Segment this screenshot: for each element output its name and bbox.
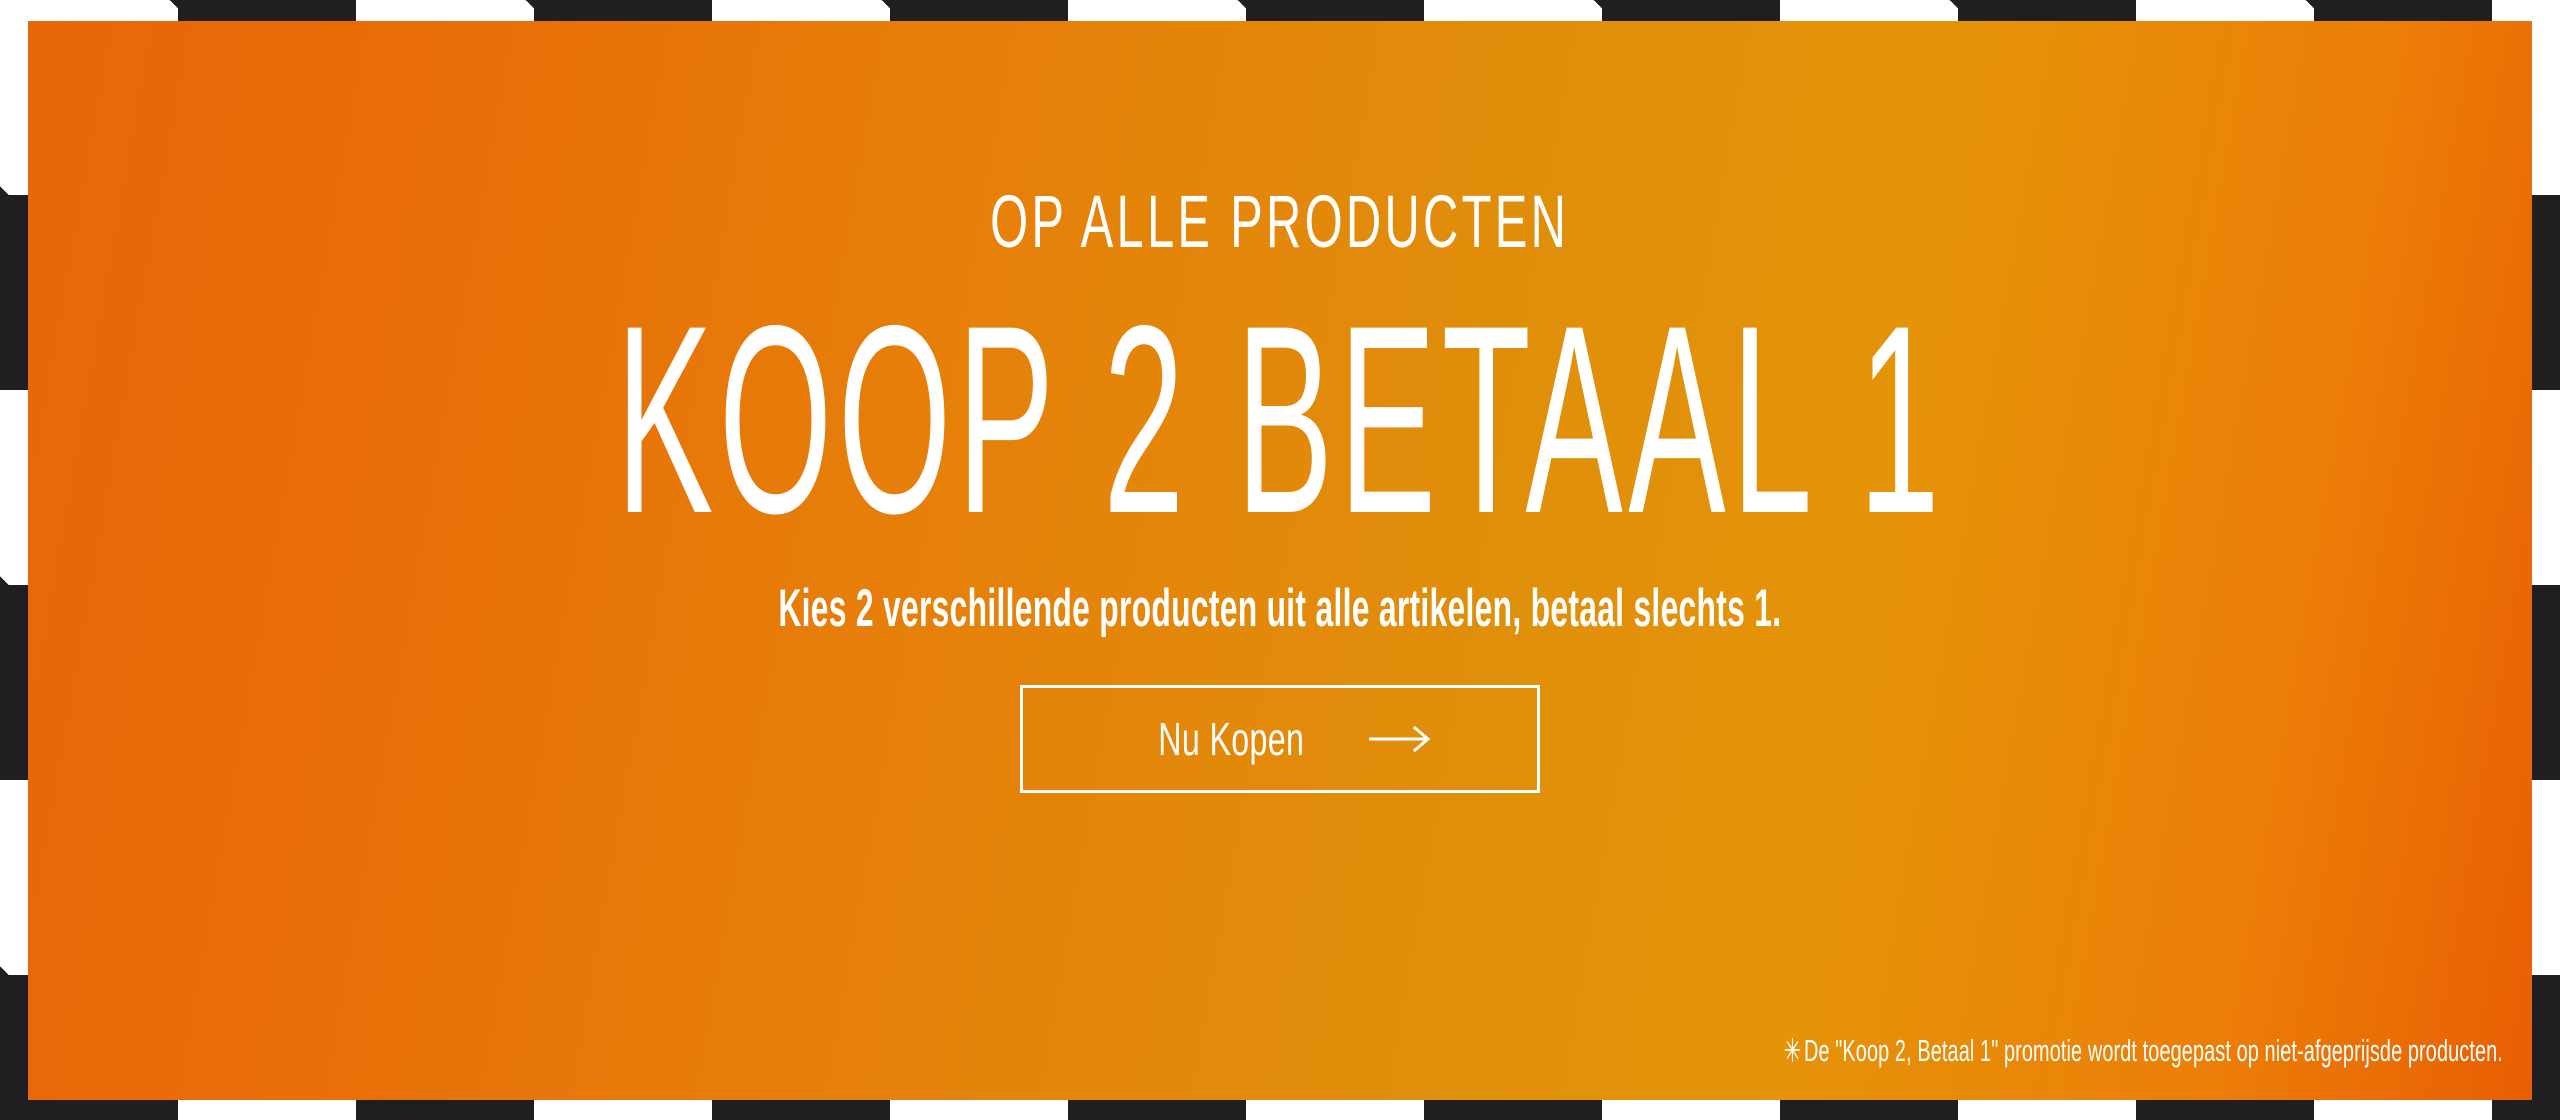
banner-headline: KOOP 2 BETAAL 1 xyxy=(615,295,1944,544)
banner-subheadline: Kies 2 verschillende producten uit alle … xyxy=(778,582,1781,635)
banner-eyebrow: OP ALLE PRODUCTEN xyxy=(990,185,1569,259)
shop-now-button[interactable]: Nu Kopen xyxy=(1020,685,1540,793)
promo-panel: OP ALLE PRODUCTEN KOOP 2 BETAAL 1 Kies 2… xyxy=(28,21,2532,1100)
asterisk-icon: ✳ xyxy=(1784,1034,1802,1067)
arrow-right-icon xyxy=(1369,726,1433,752)
promo-footnote-text: De "Koop 2, Betaal 1" promotie wordt toe… xyxy=(1804,1035,2503,1066)
shop-now-button-label: Nu Kopen xyxy=(1158,716,1304,762)
promo-footnote: ✳ De "Koop 2, Betaal 1" promotie wordt t… xyxy=(1784,1034,2503,1067)
promo-banner: OP ALLE PRODUCTEN KOOP 2 BETAAL 1 Kies 2… xyxy=(0,0,2560,1120)
